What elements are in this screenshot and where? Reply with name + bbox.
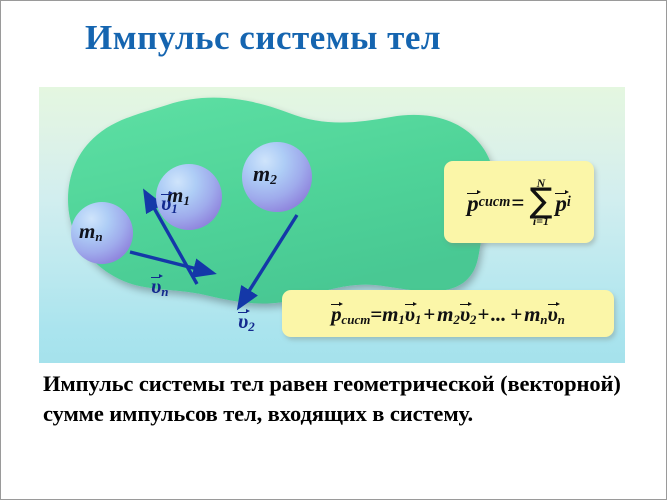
page-title: Импульс системы тел	[85, 19, 585, 58]
sigma-lower-limit: i=1	[533, 215, 549, 227]
formula-plate-sum: pсист = N ∑ i=1 pi	[444, 161, 594, 243]
velocity-label-v1: υ1	[161, 191, 178, 215]
formula-sum-expression: pсист = N ∑ i=1 pi	[467, 177, 571, 228]
formula-expanded-expression: pсист=m1υ1+m2υ2+...+mnυn	[331, 302, 565, 326]
sigma-icon: ∑	[529, 188, 552, 216]
formula-plate-expanded: pсист=m1υ1+m2υ2+...+mnυn	[282, 290, 614, 337]
illustration-panel: m1 m2 mn υ1 υ2 υn pсист = N ∑ i=1	[39, 87, 625, 363]
caption-text: Импульс системы тел равен геометрической…	[43, 369, 621, 429]
velocity-label-vn: υn	[151, 274, 169, 298]
slide: Импульс системы тел	[0, 0, 667, 500]
body-label-m2: m2	[253, 163, 277, 187]
velocity-label-v2: υ2	[238, 309, 255, 333]
body-label-mn: mn	[79, 221, 103, 243]
